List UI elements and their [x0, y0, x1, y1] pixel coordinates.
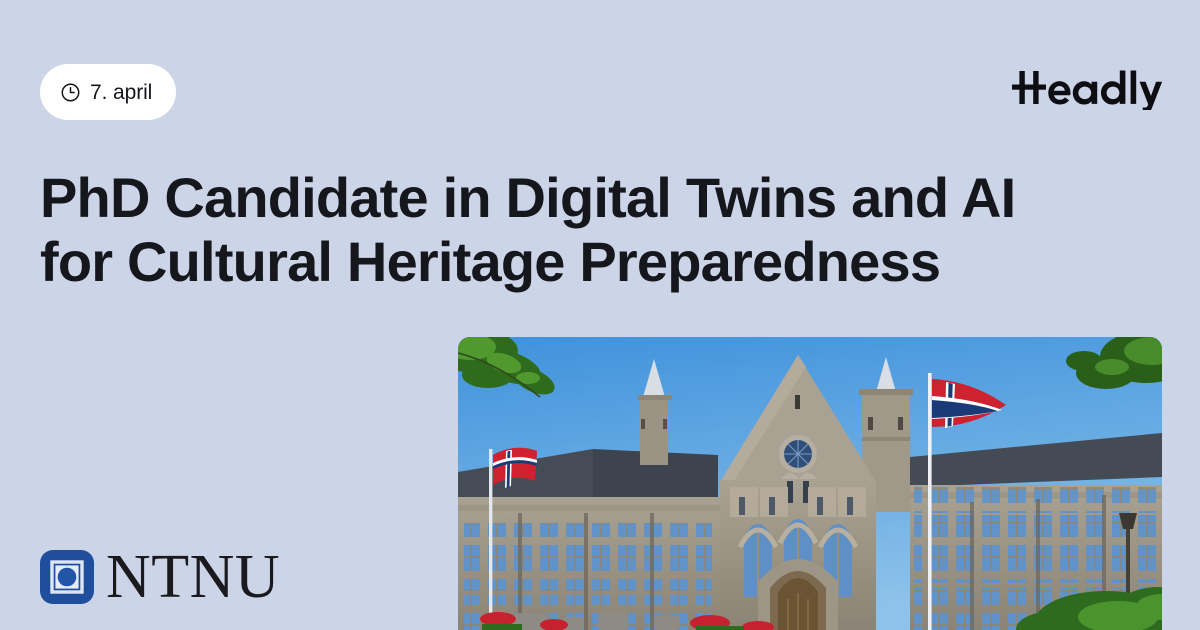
ntnu-logo: NTNU: [40, 546, 280, 608]
ntnu-mark-icon: [40, 550, 94, 604]
headline-line-2: for Cultural Heritage Preparedness: [40, 230, 940, 293]
ntnu-main-building-photo: [458, 337, 1162, 630]
clock-icon: [60, 82, 81, 103]
brand-logo[interactable]: [1012, 66, 1162, 110]
article-photo: [458, 337, 1162, 630]
headly-wordmark-icon: [1012, 66, 1162, 110]
page-title: PhD Candidate in Digital Twins and AI fo…: [40, 166, 1070, 294]
headline-line-1: PhD Candidate in Digital Twins and AI: [40, 166, 1015, 229]
poster-canvas: 7. april PhD Candidate in: [0, 0, 1200, 630]
date-label: 7. april: [90, 82, 152, 103]
ntnu-wordmark: NTNU: [106, 546, 280, 608]
date-badge: 7. april: [40, 64, 176, 120]
